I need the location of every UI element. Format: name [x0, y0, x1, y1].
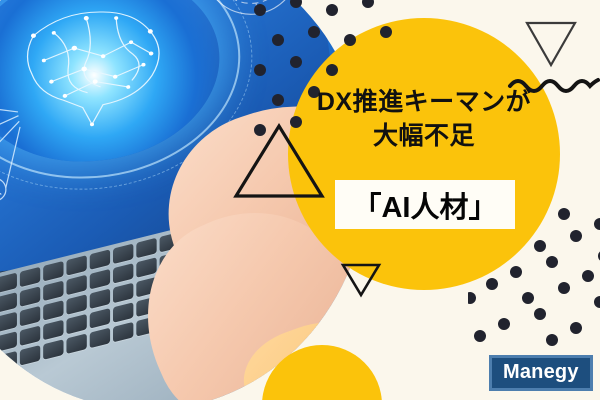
manegy-logo[interactable]: Manegy: [489, 355, 593, 391]
triangle-down-large-icon: [524, 20, 578, 68]
banner: DX推進キーマンが 大幅不足 「AI人材」 Manegy: [0, 0, 600, 400]
headline: DX推進キーマンが 大幅不足: [288, 86, 560, 153]
manegy-logo-box: Manegy: [492, 358, 590, 388]
triangle-down-small-icon: [340, 262, 382, 298]
headline-line-2: 大幅不足: [288, 120, 560, 154]
headline-line-1: DX推進キーマンが: [288, 86, 560, 120]
keyword-box: 「AI人材」: [335, 180, 515, 229]
manegy-logo-text: Manegy: [503, 362, 579, 382]
keyword-text: 「AI人材」: [352, 184, 497, 226]
